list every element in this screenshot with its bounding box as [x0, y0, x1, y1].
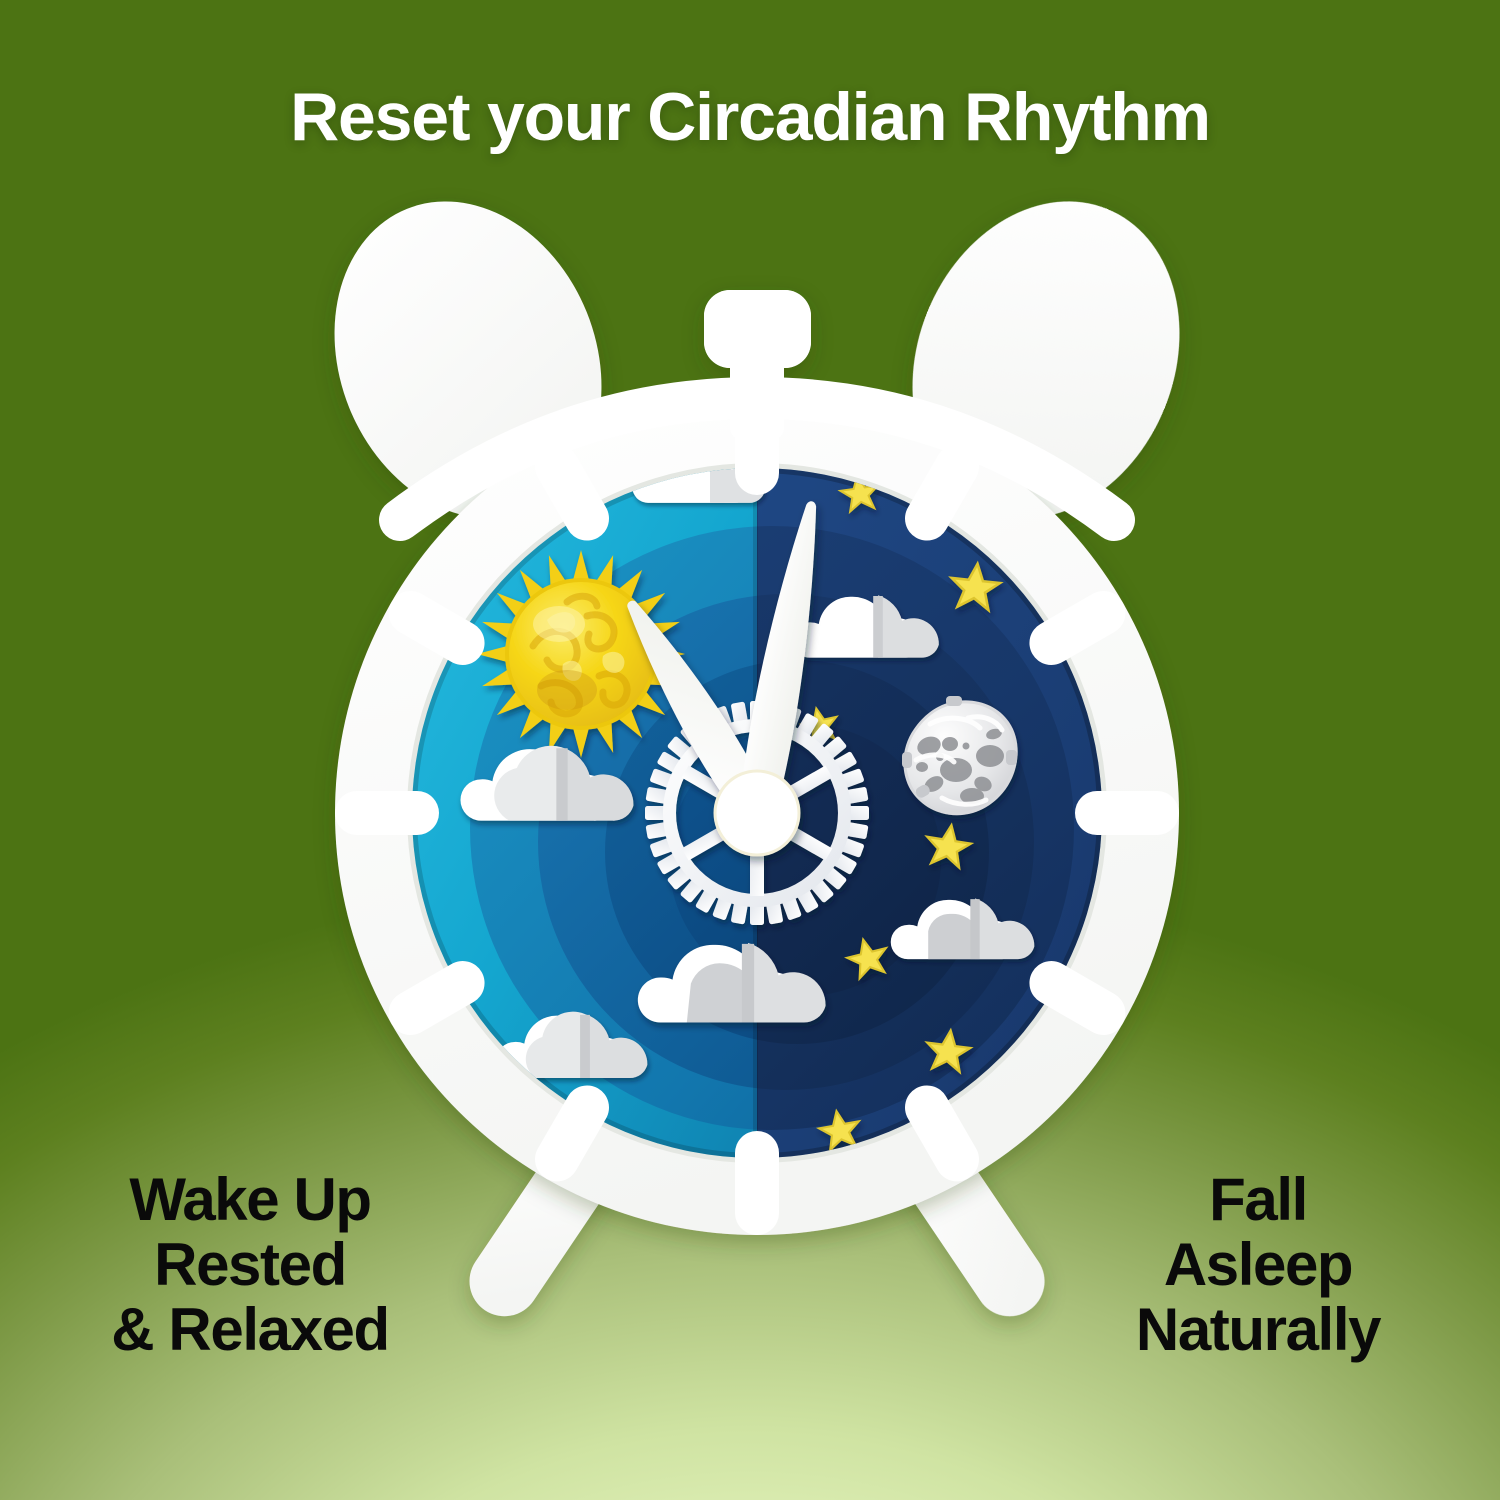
- poster-canvas: Reset your Circadian Rhythm: [0, 0, 1500, 1500]
- caption-left-line-2: Rested: [50, 1233, 450, 1298]
- caption-right-line-3: Naturally: [1058, 1298, 1458, 1363]
- caption-left-line-3: & Relaxed: [50, 1298, 450, 1363]
- caption-right-line-1: Fall: [1058, 1168, 1458, 1233]
- tick-9: [335, 791, 439, 835]
- alarm-button-front[interactable]: [704, 290, 811, 368]
- caption-left-line-1: Wake Up: [50, 1168, 450, 1233]
- tick-3: [1075, 791, 1179, 835]
- caption-right: Fall Asleep Naturally: [1058, 1168, 1458, 1362]
- caption-left: Wake Up Rested & Relaxed: [50, 1168, 450, 1362]
- caption-right-line-2: Asleep: [1058, 1233, 1458, 1298]
- tick-6: [735, 1131, 779, 1235]
